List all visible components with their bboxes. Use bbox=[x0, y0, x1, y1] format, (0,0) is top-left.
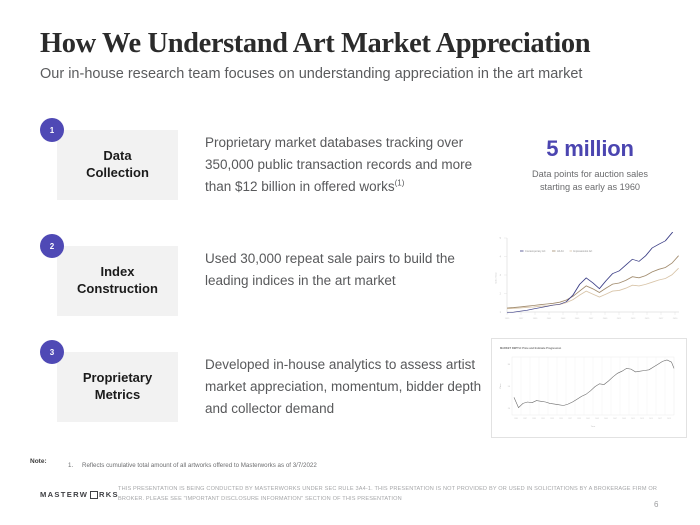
svg-text:2009: 2009 bbox=[622, 418, 626, 420]
market-depth-chart-title: MARKET DEPTH: Price and Estimate Progres… bbox=[500, 346, 562, 350]
stat-caption-line1: Data points for auction sales bbox=[532, 169, 648, 179]
svg-text:2001: 2001 bbox=[547, 318, 552, 320]
series-line-contemporary-art bbox=[507, 232, 679, 313]
x-axis-ticks bbox=[507, 312, 675, 315]
svg-text:5: 5 bbox=[500, 237, 502, 240]
svg-text:2003: 2003 bbox=[561, 318, 566, 320]
step-description-text-1: Proprietary market databases tracking ov… bbox=[205, 135, 472, 194]
svg-text:2020: 2020 bbox=[673, 318, 678, 320]
svg-text:1995: 1995 bbox=[559, 418, 563, 420]
step-badge-1: 1 bbox=[40, 118, 64, 142]
svg-text:1987: 1987 bbox=[523, 418, 527, 420]
x-axis-label: Year bbox=[591, 425, 596, 428]
svg-text:2003: 2003 bbox=[595, 418, 599, 420]
legend-label-contemporary-art: Contemporary Art bbox=[525, 249, 546, 253]
svg-text:2015: 2015 bbox=[649, 418, 653, 420]
stat-caption-line2: starting as early as 1960 bbox=[540, 182, 640, 192]
y-axis-label: Index Value bbox=[496, 272, 498, 284]
svg-text:4: 4 bbox=[500, 256, 502, 259]
step-description-footnote-marker-1: (1) bbox=[395, 178, 405, 187]
step-badge-2: 2 bbox=[40, 234, 64, 258]
step-description-3: Developed in-house analytics to assess a… bbox=[205, 354, 490, 420]
market-depth-line-chart: MARKET DEPTH: Price and Estimate Progres… bbox=[491, 338, 687, 438]
svg-text:2007: 2007 bbox=[589, 318, 594, 320]
step-description-1: Proprietary market databases tracking ov… bbox=[205, 132, 490, 198]
chart-gridlines bbox=[521, 357, 665, 415]
step-description-2: Used 30,000 repeat sale pairs to build t… bbox=[205, 248, 490, 292]
x-axis-tick-labels: 19951997 19992001 20032005 20072009 2011… bbox=[505, 318, 678, 320]
svg-text:2011: 2011 bbox=[617, 318, 622, 320]
step-box-label-line1: Data bbox=[103, 148, 131, 163]
y-axis-tick-labels: 5 4 3 2 1 bbox=[500, 237, 502, 314]
step-box-2: Index Construction bbox=[57, 246, 178, 316]
svg-text:1: 1 bbox=[500, 311, 502, 314]
stat-caption: Data points for auction sales starting a… bbox=[505, 168, 675, 194]
svg-text:2007: 2007 bbox=[613, 418, 617, 420]
series-line-price bbox=[514, 360, 674, 408]
y-axis-label: Price bbox=[499, 383, 502, 389]
svg-text:2017: 2017 bbox=[659, 318, 664, 320]
svg-text:1993: 1993 bbox=[550, 418, 554, 420]
legend-label-impressionist-art: Impressionist Art bbox=[573, 249, 592, 253]
legend-label-all-art: All Art bbox=[557, 249, 564, 253]
step-badge-3: 3 bbox=[40, 340, 64, 364]
step-box-label-line2: Construction bbox=[77, 281, 158, 296]
legal-disclaimer: THIS PRESENTATION IS BEING CONDUCTED BY … bbox=[118, 485, 666, 505]
svg-text:1989: 1989 bbox=[532, 418, 536, 420]
logo-text-after: RKS bbox=[99, 490, 119, 499]
stat-value: 5 million bbox=[505, 136, 675, 162]
step-box-label-1: Data Collection bbox=[86, 148, 149, 182]
svg-text:1991: 1991 bbox=[541, 418, 545, 420]
svg-text:2015: 2015 bbox=[645, 318, 650, 320]
svg-text:80: 80 bbox=[508, 364, 511, 366]
step-box-label-line2: Metrics bbox=[95, 387, 141, 402]
stat-block: 5 million Data points for auction sales … bbox=[505, 136, 675, 194]
chart-legend: Contemporary Art All Art Impressionist A… bbox=[520, 249, 592, 253]
art-index-line-chart: 5 4 3 2 1 Index Value 19951997 19992001 bbox=[491, 232, 685, 330]
svg-text:2013: 2013 bbox=[631, 318, 636, 320]
logo-text-before: MASTERW bbox=[40, 490, 88, 499]
svg-text:2019: 2019 bbox=[667, 418, 671, 420]
svg-text:1997: 1997 bbox=[568, 418, 572, 420]
step-box-3: Proprietary Metrics bbox=[57, 352, 178, 422]
step-box-1: Data Collection bbox=[57, 130, 178, 200]
step-box-label-line1: Index bbox=[101, 264, 135, 279]
svg-text:2: 2 bbox=[500, 293, 502, 296]
page-subtitle: Our in-house research team focuses on un… bbox=[40, 66, 582, 82]
x-axis-tick-labels: 19851987 19891991 19931995 19971999 2001… bbox=[514, 418, 671, 420]
svg-text:2005: 2005 bbox=[604, 418, 608, 420]
market-depth-chart-svg: MARKET DEPTH: Price and Estimate Progres… bbox=[492, 339, 686, 437]
note-number: 1. bbox=[68, 462, 73, 469]
svg-text:2013: 2013 bbox=[640, 418, 644, 420]
step-box-label-3: Proprietary Metrics bbox=[83, 370, 152, 404]
svg-text:2009: 2009 bbox=[603, 318, 608, 320]
step-box-label-2: Index Construction bbox=[77, 264, 158, 298]
svg-text:2001: 2001 bbox=[586, 418, 590, 420]
page-number: 6 bbox=[654, 500, 658, 509]
svg-text:20: 20 bbox=[508, 408, 511, 410]
svg-text:1999: 1999 bbox=[577, 418, 581, 420]
logo-square-icon bbox=[90, 491, 98, 499]
svg-text:2017: 2017 bbox=[658, 418, 662, 420]
note-text: Reflects cumulative total amount of all … bbox=[82, 462, 317, 469]
svg-text:1999: 1999 bbox=[533, 318, 538, 320]
svg-text:1995: 1995 bbox=[505, 318, 510, 320]
svg-text:3: 3 bbox=[500, 274, 502, 277]
note-label: Note: bbox=[30, 458, 47, 465]
step-description-text-2: Used 30,000 repeat sale pairs to build t… bbox=[205, 251, 455, 288]
svg-text:2005: 2005 bbox=[575, 318, 580, 320]
svg-text:1985: 1985 bbox=[514, 418, 518, 420]
masterworks-logo: MASTERW RKS bbox=[40, 490, 119, 499]
page-title: How We Understand Art Market Appreciatio… bbox=[40, 28, 590, 60]
y-axis-tick-labels: 80 50 20 bbox=[508, 364, 511, 410]
svg-text:50: 50 bbox=[508, 386, 511, 388]
svg-text:2011: 2011 bbox=[631, 418, 635, 420]
art-index-chart-svg: 5 4 3 2 1 Index Value 19951997 19992001 bbox=[491, 232, 685, 330]
y-axis-ticks bbox=[504, 238, 507, 294]
step-description-text-3: Developed in-house analytics to assess a… bbox=[205, 357, 481, 416]
svg-text:1997: 1997 bbox=[519, 318, 524, 320]
step-box-label-line1: Proprietary bbox=[83, 370, 152, 385]
step-box-label-line2: Collection bbox=[86, 165, 149, 180]
